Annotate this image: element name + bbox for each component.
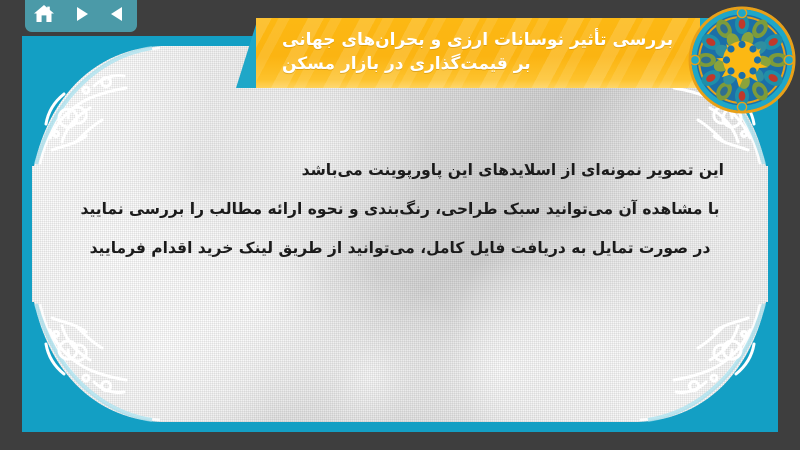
slide-title-line-1: بررسی تأثیر نوسانات ارزی و بحران‌های جها… (282, 28, 673, 52)
previous-slide-button[interactable] (104, 1, 132, 27)
arabesque-corner-icon (32, 302, 162, 422)
body-line-2: با مشاهده آن می‌توانید سبک طراحی، رنگ‌بن… (62, 190, 738, 229)
slide-title-line-2: بر قیمت‌گذاری در بازار مسکن (282, 52, 531, 76)
arabesque-corner-icon (638, 302, 768, 422)
slide-body-text: این تصویر نمونه‌ای از اسلایدهای این پاور… (62, 151, 738, 268)
slide-navigation-bar (25, 0, 137, 32)
home-button[interactable] (30, 1, 58, 27)
presentation-slide: این تصویر نمونه‌ای از اسلایدهای این پاور… (22, 36, 778, 432)
body-line-1: این تصویر نمونه‌ای از اسلایدهای این پاور… (62, 151, 738, 190)
slide-viewer: این تصویر نمونه‌ای از اسلایدهای این پاور… (0, 0, 800, 450)
arabesque-corner-icon (32, 46, 162, 166)
title-banner-body: بررسی تأثیر نوسانات ارزی و بحران‌های جها… (256, 18, 700, 88)
body-line-3: در صورت تمایل به دریافت فایل کامل، می‌تو… (62, 229, 738, 268)
next-slide-button[interactable] (67, 1, 95, 27)
slide-content-panel: این تصویر نمونه‌ای از اسلایدهای این پاور… (32, 46, 768, 422)
slide-title-banner: بررسی تأثیر نوسانات ارزی و بحران‌های جها… (256, 18, 728, 88)
title-banner-tab (700, 18, 728, 88)
